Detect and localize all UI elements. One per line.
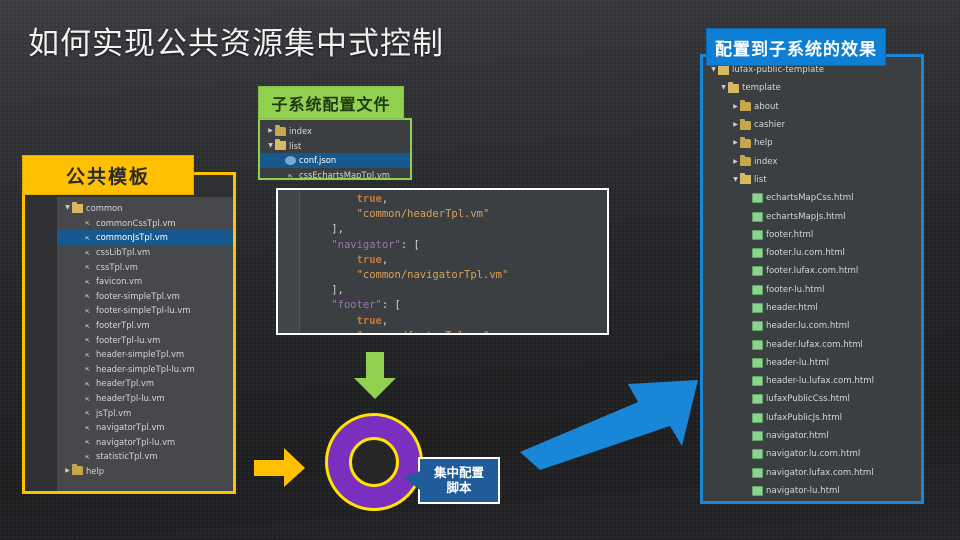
code-token: true <box>357 254 382 266</box>
tree-row[interactable]: header-lu.html <box>703 354 921 372</box>
code-token: true <box>357 193 382 205</box>
tree-row[interactable]: ▼common <box>57 201 233 216</box>
folder-open-icon <box>275 141 286 150</box>
tree-row[interactable]: navigator.lufax.com.html <box>703 464 921 482</box>
json-file-icon <box>285 156 296 165</box>
code-line: ], <box>306 222 607 237</box>
tree-row-label: index <box>754 157 778 167</box>
folder-icon <box>740 121 751 130</box>
vm-file-icon: ⇱ <box>82 335 93 344</box>
html-file-icon <box>752 321 763 331</box>
html-file-icon <box>752 212 763 222</box>
tree-row[interactable]: navigator.html <box>703 427 921 445</box>
tree-row[interactable]: ▼list <box>703 171 921 189</box>
code-token: , <box>382 193 388 205</box>
tree-row[interactable]: ⇱header-simpleTpl.vm <box>57 347 233 362</box>
tree-row[interactable]: header.html <box>703 299 921 317</box>
chevron-right-icon[interactable]: ▶ <box>731 104 740 110</box>
tree-row[interactable]: footer.lu.com.html <box>703 244 921 262</box>
tree-row-label: header-lu.html <box>766 358 829 368</box>
tree-row-label: footerTpl.vm <box>96 320 150 330</box>
chevron-right-icon[interactable]: ▶ <box>731 140 740 146</box>
tree-row-label: cssLibTpl.vm <box>96 247 150 257</box>
html-file-icon <box>752 431 763 441</box>
tree-row-label: conf.json <box>299 155 336 165</box>
tree-row-label: navigator.lu.com.html <box>766 449 860 459</box>
tree-row[interactable]: echartsMapCss.html <box>703 189 921 207</box>
tree-row[interactable]: lufaxPublicCss.html <box>703 390 921 408</box>
tree-row[interactable]: ⇱footerTpl.vm <box>57 318 233 333</box>
tree-row-label: about <box>754 102 779 112</box>
code-line: ], <box>306 283 607 298</box>
vm-file-icon: ⇱ <box>82 321 93 330</box>
page-title: 如何实现公共资源集中式控制 <box>28 18 444 63</box>
tree-row[interactable]: ⇱commonCssTpl.vm <box>57 216 233 231</box>
tree-row[interactable]: ⇱footer-simpleTpl.vm <box>57 289 233 304</box>
tree-row-label: statisticTpl.vm <box>96 451 158 461</box>
tree-row-label: cashier <box>754 120 785 130</box>
callout-line-1: 集中配置 <box>434 466 484 481</box>
html-file-icon <box>752 285 763 295</box>
tree-row-label: header.html <box>766 303 818 313</box>
green-down-arrow-icon <box>352 352 398 400</box>
tree-row-label: header-lu.lufax.com.html <box>766 376 874 386</box>
folder-icon <box>72 466 83 475</box>
tree-row-label: commonJsTpl.vm <box>96 232 168 242</box>
subsystem-config-caption: 子系统配置文件 <box>258 86 404 119</box>
html-file-icon <box>752 358 763 368</box>
tree-row-label: navigatorTpl-lu.vm <box>96 437 175 447</box>
tree-row-label: list <box>754 175 767 185</box>
subsystem-effect-caption: 配置到子系统的效果 <box>706 28 886 66</box>
code-token: "footer" <box>331 299 382 311</box>
html-file-icon <box>752 266 763 276</box>
tree-row[interactable]: echartsMapJs.html <box>703 207 921 225</box>
tree-row-label: lufax-public-template <box>732 65 824 75</box>
vm-file-icon: ⇱ <box>82 408 93 417</box>
tree-row-label: navigator.lufax.com.html <box>766 468 874 478</box>
code-line: "footer": [ <box>306 298 607 313</box>
tree-row-label: template <box>742 83 781 93</box>
folder-open-icon <box>740 175 751 184</box>
subsystem-effect-file-tree[interactable]: ▼lufax-public-template▼template▶about▶ca… <box>703 57 921 501</box>
chevron-right-icon[interactable]: ▶ <box>731 159 740 165</box>
code-token: : [ <box>401 239 420 251</box>
html-file-icon <box>752 376 763 386</box>
code-token: "navigator" <box>331 239 401 251</box>
tree-row-label: jsTpl.vm <box>96 408 131 418</box>
tree-row[interactable]: ⇱cssTpl.vm <box>57 259 233 274</box>
public-template-panel: ▼common⇱commonCssTpl.vm⇱commonJsTpl.vm⇱c… <box>22 172 236 494</box>
code-token: ], <box>331 284 344 296</box>
tree-row-label: help <box>754 138 773 148</box>
code-token: , <box>382 254 388 266</box>
vm-file-icon: ⇱ <box>82 379 93 388</box>
tree-row[interactable]: ⇱footerTpl-lu.vm <box>57 332 233 347</box>
tree-row-label: commonCssTpl.vm <box>96 218 176 228</box>
tree-row-label: cssEchartsMapTpl.vm <box>299 170 390 178</box>
code-token: "common/navigatorTpl.vm" <box>357 269 509 281</box>
tree-row[interactable]: ▼template <box>703 79 921 97</box>
folder-open-icon <box>718 66 729 75</box>
html-file-icon <box>752 193 763 203</box>
blue-up-right-arrow-icon <box>520 378 700 470</box>
tree-row-label: list <box>289 141 301 151</box>
tree-row-label: header.lufax.com.html <box>766 340 863 350</box>
tree-row-label: footer-lu.html <box>766 285 824 295</box>
code-token: : [ <box>382 299 401 311</box>
vm-file-icon: ⇱ <box>82 437 93 446</box>
html-file-icon <box>752 303 763 313</box>
folder-open-icon <box>728 84 739 93</box>
tree-row[interactable]: ▶help <box>57 464 233 479</box>
chevron-down-icon[interactable]: ▼ <box>709 67 718 73</box>
chevron-down-icon[interactable]: ▼ <box>266 143 275 149</box>
tree-row-label: header.lu.com.html <box>766 321 849 331</box>
tree-row[interactable]: navigator.lu.com.html <box>703 445 921 463</box>
code-content[interactable]: true, "common/headerTpl.vm" ], "navigato… <box>300 190 607 333</box>
vm-file-icon: ⇱ <box>82 233 93 242</box>
html-file-icon <box>752 248 763 258</box>
code-line: "common/footerTpl.vm" <box>306 329 607 335</box>
orange-right-arrow-icon <box>254 448 306 488</box>
tree-row[interactable]: header.lu.com.html <box>703 317 921 335</box>
tree-row-label: header-simpleTpl-lu.vm <box>96 364 195 374</box>
tree-row[interactable]: statistic.html <box>703 500 921 501</box>
tree-row-label: footer.lufax.com.html <box>766 266 858 276</box>
tree-row-label: footer-simpleTpl-lu.vm <box>96 305 190 315</box>
tree-row[interactable]: ⇱navigatorTpl.vm <box>57 420 233 435</box>
chevron-down-icon[interactable]: ▼ <box>63 205 72 211</box>
subsystem-effect-panel: ▼lufax-public-template▼template▶about▶ca… <box>700 54 924 504</box>
code-line: true, <box>306 253 607 268</box>
tree-row-label: lufaxPublicCss.html <box>766 394 850 404</box>
tree-row[interactable]: header.lufax.com.html <box>703 335 921 353</box>
tree-row[interactable]: conf.json <box>260 153 410 168</box>
tree-row[interactable]: footer.lufax.com.html <box>703 262 921 280</box>
public-template-caption: 公共模板 <box>22 155 194 195</box>
tree-row[interactable]: ⇱headerTpl-lu.vm <box>57 391 233 406</box>
tree-row[interactable]: ▼list <box>260 139 410 154</box>
html-file-icon <box>752 486 763 496</box>
tree-row[interactable]: ▶help <box>703 134 921 152</box>
code-token: , <box>382 315 388 327</box>
callout-line-2: 脚本 <box>446 481 471 496</box>
tree-row[interactable]: lufaxPublicJs.html <box>703 409 921 427</box>
tree-row-label: index <box>289 126 312 136</box>
chevron-right-icon[interactable]: ▶ <box>266 128 275 134</box>
tree-row-label: echartsMapCss.html <box>766 193 854 203</box>
vm-file-icon: ⇱ <box>82 248 93 257</box>
vm-file-icon: ⇱ <box>82 423 93 432</box>
tree-row-label: navigator-lu.html <box>766 486 840 496</box>
vm-file-icon: ⇱ <box>82 364 93 373</box>
tree-row[interactable]: ⇱jsTpl.vm <box>57 405 233 420</box>
vm-file-icon: ⇱ <box>82 277 93 286</box>
tree-row[interactable]: header-lu.lufax.com.html <box>703 372 921 390</box>
tree-row-label: favicon.vm <box>96 276 142 286</box>
chevron-down-icon[interactable]: ▼ <box>719 85 728 91</box>
html-file-icon <box>752 230 763 240</box>
public-template-file-tree[interactable]: ▼common⇱commonCssTpl.vm⇱commonJsTpl.vm⇱c… <box>57 197 233 491</box>
centralized-script-callout: 集中配置 脚本 <box>418 457 500 504</box>
tree-row-label: footer-simpleTpl.vm <box>96 291 180 301</box>
vm-file-icon: ⇱ <box>82 291 93 300</box>
code-token: ], <box>331 223 344 235</box>
vm-file-icon: ⇱ <box>82 306 93 315</box>
folder-icon <box>740 157 751 166</box>
code-line: true, <box>306 192 607 207</box>
folder-icon <box>275 127 286 136</box>
tree-row-label: header-simpleTpl.vm <box>96 349 184 359</box>
tree-row[interactable]: ⇱cssEchartsMapTpl.vm <box>260 168 410 178</box>
code-line: "common/navigatorTpl.vm" <box>306 268 607 283</box>
code-line-number-gutter <box>278 190 300 333</box>
tree-row-label: lufaxPublicJs.html <box>766 413 842 423</box>
code-line: "common/headerTpl.vm" <box>306 207 607 222</box>
tree-row[interactable]: ⇱navigatorTpl-lu.vm <box>57 435 233 450</box>
tree-row[interactable]: footer-lu.html <box>703 281 921 299</box>
tree-row-label: footerTpl-lu.vm <box>96 335 160 345</box>
tree-row-label: headerTpl-lu.vm <box>96 393 165 403</box>
code-token: "common/headerTpl.vm" <box>357 208 490 220</box>
vm-file-icon: ⇱ <box>285 171 296 178</box>
code-token: "common/footerTpl.vm" <box>357 330 490 335</box>
vm-file-icon: ⇱ <box>82 350 93 359</box>
tree-row[interactable]: ⇱headerTpl.vm <box>57 376 233 391</box>
conf-json-code-panel[interactable]: true, "common/headerTpl.vm" ], "navigato… <box>276 188 609 335</box>
tree-row[interactable]: ▶index <box>260 124 410 139</box>
folder-icon <box>740 102 751 111</box>
code-line: "navigator": [ <box>306 238 607 253</box>
html-file-icon <box>752 449 763 459</box>
vm-file-icon: ⇱ <box>82 452 93 461</box>
tree-row[interactable]: navigator-lu.html <box>703 482 921 500</box>
html-file-icon <box>752 468 763 478</box>
tree-row-label: footer.lu.com.html <box>766 248 845 258</box>
tree-row[interactable]: ⇱header-simpleTpl-lu.vm <box>57 362 233 377</box>
html-file-icon <box>752 394 763 404</box>
tree-row[interactable]: ⇱footer-simpleTpl-lu.vm <box>57 303 233 318</box>
code-line: true, <box>306 314 607 329</box>
tree-row-label: navigatorTpl.vm <box>96 422 165 432</box>
subsystem-config-file-tree[interactable]: ▶index▼listconf.json⇱cssEchartsMapTpl.vm… <box>260 120 410 178</box>
folder-icon <box>740 139 751 148</box>
html-file-icon <box>752 413 763 423</box>
vm-file-icon: ⇱ <box>82 218 93 227</box>
tree-row-label: cssTpl.vm <box>96 262 138 272</box>
tree-row-label: echartsMapJs.html <box>766 212 846 222</box>
chevron-down-icon[interactable]: ▼ <box>731 177 740 183</box>
tree-row[interactable]: ▶cashier <box>703 116 921 134</box>
tree-row[interactable]: ▶index <box>703 152 921 170</box>
chevron-right-icon[interactable]: ▶ <box>731 122 740 128</box>
code-token: true <box>357 315 382 327</box>
html-file-icon <box>752 340 763 350</box>
tree-row-label: navigator.html <box>766 431 829 441</box>
chevron-right-icon[interactable]: ▶ <box>63 468 72 474</box>
vm-file-icon: ⇱ <box>82 262 93 271</box>
tree-row-label: help <box>86 466 104 476</box>
tree-row[interactable]: ⇱favicon.vm <box>57 274 233 289</box>
tree-row[interactable]: ⇱statisticTpl.vm <box>57 449 233 464</box>
tree-row-label: footer.html <box>766 230 813 240</box>
folder-open-icon <box>72 204 83 213</box>
tree-row-label: headerTpl.vm <box>96 378 154 388</box>
tree-row[interactable]: ⇱commonJsTpl.vm <box>57 230 233 245</box>
tree-row[interactable]: footer.html <box>703 226 921 244</box>
tree-row[interactable]: ▶about <box>703 98 921 116</box>
centralized-script-donut <box>325 413 423 511</box>
tree-row[interactable]: ⇱cssLibTpl.vm <box>57 245 233 260</box>
tree-row-label: common <box>86 203 122 213</box>
subsystem-config-panel: ▶index▼listconf.json⇱cssEchartsMapTpl.vm… <box>258 118 412 180</box>
vm-file-icon: ⇱ <box>82 394 93 403</box>
